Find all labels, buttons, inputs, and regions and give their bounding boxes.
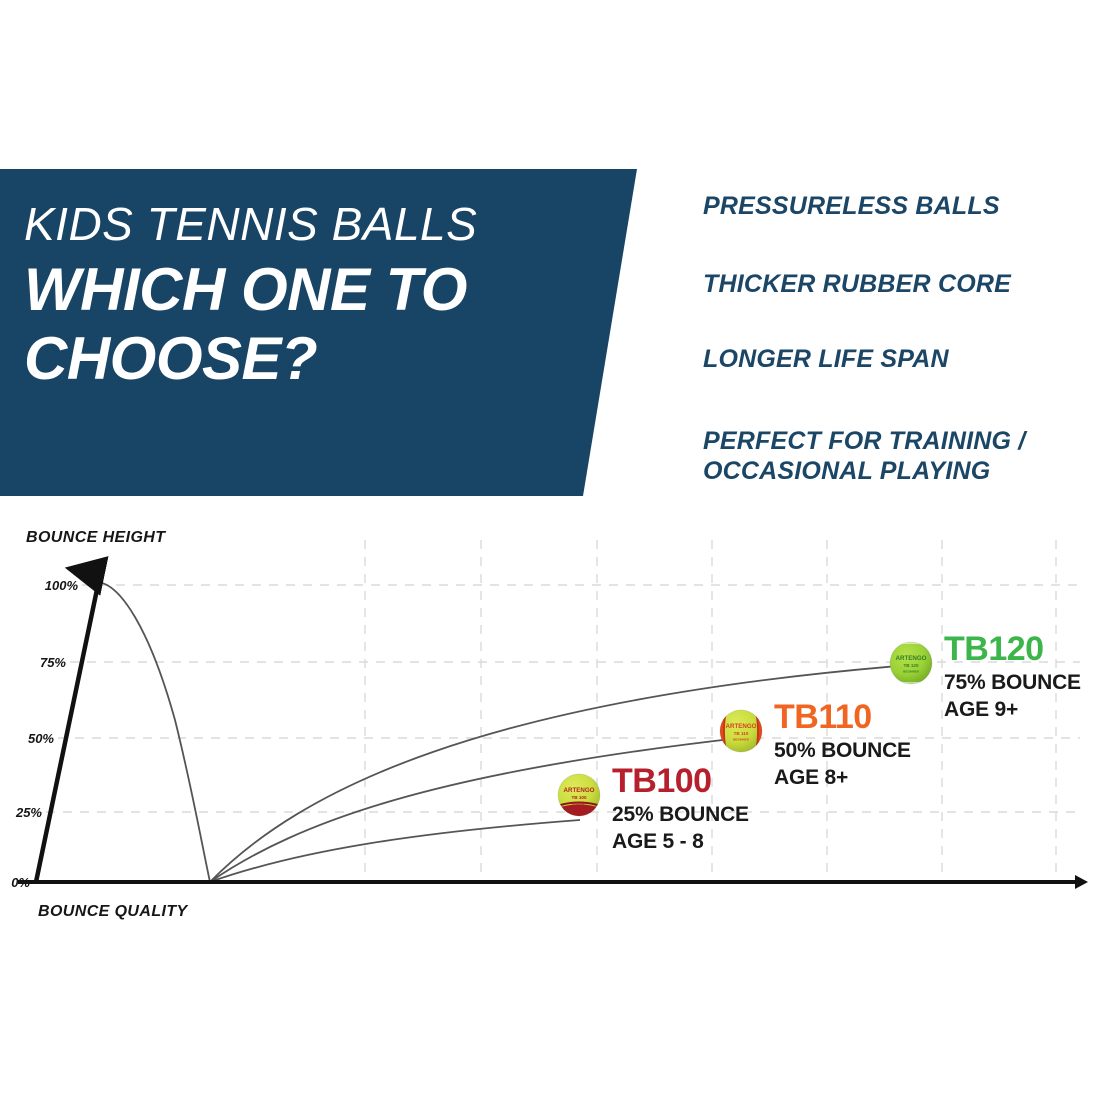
title-line-2: WHICH ONE TO	[24, 256, 640, 323]
y-axis	[36, 575, 100, 882]
feature-item-1: PRESSURELESS BALLS	[703, 192, 1000, 222]
callout-tb100-age: AGE 5 - 8	[612, 830, 749, 854]
ball-sub-tb100: BEGINNER	[571, 802, 588, 806]
y-tick-label-50: 50%	[28, 731, 54, 746]
tennis-ball-tb110-icon: ARTENGO TB 110 BEGINNER	[718, 708, 764, 754]
ball-brand-tb110: ARTENGO	[726, 723, 757, 730]
curve-incoming-drop	[96, 582, 210, 882]
chart-svg: BOUNCE HEIGHT BOUNCE QUALITY 0% 25% 50% …	[0, 520, 1100, 940]
callout-tb110-bounce: 50% BOUNCE	[774, 739, 911, 763]
ball-model-tb100: TB 100	[571, 795, 587, 800]
feature-item-3: LONGER LIFE SPAN	[703, 345, 949, 375]
ball-sub-tb110: BEGINNER	[733, 738, 750, 742]
ball-sub-tb120: BEGINNER	[903, 670, 920, 674]
callout-tb120-age: AGE 9+	[944, 698, 1081, 722]
callout-tb120-bounce: 75% BOUNCE	[944, 671, 1081, 695]
feature-item-4-line-2: OCCASIONAL PLAYING	[703, 457, 1025, 487]
feature-item-4-line-1: PERFECT FOR TRAINING /	[703, 427, 1025, 455]
curve-tb100	[210, 820, 580, 882]
y-tick-label-75: 75%	[40, 655, 66, 670]
ball-brand-tb120: ARTENGO	[896, 655, 927, 662]
callout-tb100-model: TB100	[612, 764, 749, 798]
feature-item-4: PERFECT FOR TRAINING / OCCASIONAL PLAYIN…	[703, 427, 1025, 486]
infographic-root: KIDS TENNIS BALLS WHICH ONE TO CHOOSE? P…	[0, 0, 1100, 1100]
feature-item-2: THICKER RUBBER CORE	[703, 270, 1011, 300]
callout-tb110-text: TB110 50% BOUNCE AGE 8+	[774, 700, 911, 789]
tennis-ball-tb100-icon: ARTENGO TB 100 BEGINNER	[556, 772, 602, 818]
ball-brand-tb100: ARTENGO	[564, 787, 595, 794]
y-tick-label-0: 0%	[11, 875, 30, 890]
title-line-3: CHOOSE?	[24, 325, 640, 392]
y-tick-label-100: 100%	[45, 578, 79, 593]
y-axis-title: BOUNCE HEIGHT	[26, 529, 166, 546]
callout-tb120-model: TB120	[944, 632, 1081, 666]
callout-tb110-model: TB110	[774, 700, 911, 734]
callout-tb100-bounce: 25% BOUNCE	[612, 803, 749, 827]
ball-model-tb110: TB 110	[734, 731, 749, 736]
title-line-1: KIDS TENNIS BALLS	[24, 201, 640, 248]
tennis-ball-tb120-icon: ARTENGO TB 120 BEGINNER	[888, 640, 934, 686]
bounce-chart: BOUNCE HEIGHT BOUNCE QUALITY 0% 25% 50% …	[0, 520, 1100, 940]
title-block: KIDS TENNIS BALLS WHICH ONE TO CHOOSE?	[0, 169, 640, 496]
y-tick-label-25: 25%	[15, 805, 42, 820]
callout-tb100-text: TB100 25% BOUNCE AGE 5 - 8	[612, 764, 749, 853]
x-axis-arrowhead	[1075, 875, 1088, 889]
ball-model-tb120: TB 120	[903, 663, 919, 668]
callout-tb110-age: AGE 8+	[774, 766, 911, 790]
x-axis-title: BOUNCE QUALITY	[38, 903, 189, 920]
callout-tb120-text: TB120 75% BOUNCE AGE 9+	[944, 632, 1081, 721]
